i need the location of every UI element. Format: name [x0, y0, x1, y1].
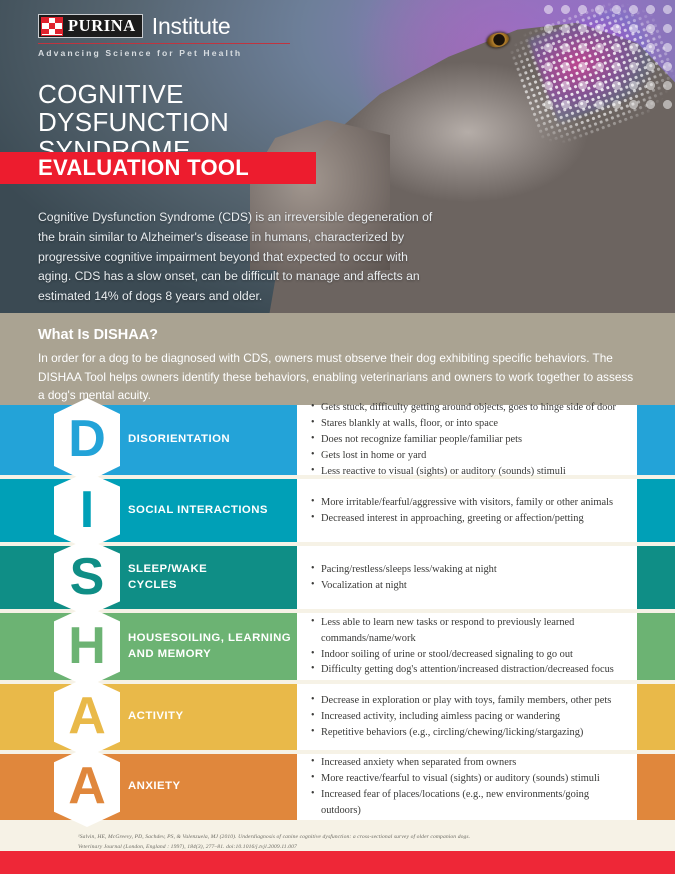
dishaa-category-label: SLEEP/WAKECYCLES — [128, 562, 207, 593]
dishaa-sign-item: Gets stuck, difficulty getting around ob… — [311, 400, 616, 416]
dishaa-sign-item: More reactive/fearful to visual (sights)… — [311, 771, 621, 787]
dishaa-letter: A — [68, 760, 106, 812]
title-line-1: COGNITIVE — [38, 80, 229, 108]
dishaa-letter: H — [68, 620, 106, 672]
dishaa-row-color-tail — [637, 613, 675, 680]
dishaa-row-color-tail — [637, 684, 675, 750]
dishaa-sign-item: Increased anxiety when separated from ow… — [311, 755, 621, 771]
hero-description: Cognitive Dysfunction Syndrome (CDS) is … — [38, 208, 443, 307]
dishaa-row-left: ISOCIAL INTERACTIONS — [0, 479, 297, 542]
hero-section: PURINA Institute Advancing Science for P… — [0, 0, 675, 313]
infographic-page: PURINA Institute Advancing Science for P… — [0, 0, 675, 874]
dishaa-row-color-tail — [637, 754, 675, 820]
dishaa-row-left: DDISORIENTATION — [0, 405, 297, 475]
dishaa-hexagon: I — [54, 472, 120, 549]
footer-red-bar — [0, 851, 675, 874]
dishaa-signs-list: Gets stuck, difficulty getting around ob… — [297, 405, 637, 475]
dishaa-sign-item: Stares blankly at walls, floor, or into … — [311, 416, 616, 432]
dishaa-signs-list: Increased anxiety when separated from ow… — [297, 754, 637, 820]
title-line-2: DYSFUNCTION — [38, 108, 229, 136]
dishaa-row: SSLEEP/WAKECYCLESPacing/restless/sleeps … — [0, 546, 675, 609]
dishaa-sign-item: Vocalization at night — [311, 578, 497, 594]
dishaa-sign-item: Increased fear of places/locations (e.g.… — [311, 787, 621, 819]
dishaa-sign-item: Indoor soiling of urine or stool/decreas… — [311, 647, 621, 663]
purina-badge: PURINA — [38, 14, 143, 38]
evaluation-tool-banner: EVALUATION TOOL — [0, 152, 316, 184]
dishaa-category-label: ACTIVITY — [128, 709, 184, 724]
dishaa-hexagon: A — [54, 747, 120, 827]
brand-tagline: Advancing Science for Pet Health — [38, 48, 290, 58]
purina-wordmark: PURINA — [68, 18, 136, 35]
dishaa-row: DDISORIENTATIONGets stuck, difficulty ge… — [0, 405, 675, 475]
dishaa-signs-list: Decrease in exploration or play with toy… — [297, 684, 637, 750]
dishaa-hexagon: D — [54, 398, 120, 482]
dishaa-sign-item: Difficulty getting dog's attention/incre… — [311, 662, 621, 678]
dishaa-sign-item: Decreased interest in approaching, greet… — [311, 511, 613, 527]
purina-checkerboard-icon — [41, 17, 63, 36]
dishaa-category-label: HOUSESOILING, LEARNINGAND MEMORY — [128, 631, 291, 662]
dishaa-row: AANXIETYIncreased anxiety when separated… — [0, 754, 675, 820]
dishaa-sign-item: Less reactive to visual (sights) or audi… — [311, 464, 616, 480]
dishaa-category-label: DISORIENTATION — [128, 432, 230, 447]
dishaa-sign-item: Pacing/restless/sleeps less/waking at ni… — [311, 562, 497, 578]
dishaa-sign-item: More irritable/fearful/aggressive with v… — [311, 495, 613, 511]
dishaa-row-color-tail — [637, 479, 675, 542]
dishaa-row-color-tail — [637, 546, 675, 609]
dishaa-row-left: AANXIETY — [0, 754, 297, 820]
dishaa-row: HHOUSESOILING, LEARNINGAND MEMORYLess ab… — [0, 613, 675, 680]
dishaa-row: AACTIVITYDecrease in exploration or play… — [0, 684, 675, 750]
evaluation-tool-label: EVALUATION TOOL — [38, 155, 249, 181]
dishaa-sign-item: Decrease in exploration or play with toy… — [311, 693, 611, 709]
sparkle-particles — [540, 0, 675, 110]
dishaa-sign-item: Increased activity, including aimless pa… — [311, 709, 611, 725]
dishaa-letter: A — [68, 690, 106, 742]
dishaa-letter: I — [80, 484, 94, 536]
dishaa-row-left: HHOUSESOILING, LEARNINGAND MEMORY — [0, 613, 297, 680]
dishaa-intro-body: In order for a dog to be diagnosed with … — [38, 349, 639, 405]
dishaa-sign-item: Gets lost in home or yard — [311, 448, 616, 464]
dishaa-rows: DDISORIENTATIONGets stuck, difficulty ge… — [0, 405, 675, 820]
dishaa-category-label: SOCIAL INTERACTIONS — [128, 503, 268, 518]
dishaa-signs-list: Less able to learn new tasks or respond … — [297, 613, 637, 680]
dishaa-hexagon: A — [54, 677, 120, 757]
dishaa-hexagon: S — [54, 539, 120, 616]
dishaa-letter: D — [68, 413, 106, 465]
dishaa-row-left: SSLEEP/WAKECYCLES — [0, 546, 297, 609]
dishaa-signs-list: More irritable/fearful/aggressive with v… — [297, 479, 637, 542]
dishaa-row-left: AACTIVITY — [0, 684, 297, 750]
dishaa-letter: S — [70, 551, 105, 603]
dishaa-signs-list: Pacing/restless/sleeps less/waking at ni… — [297, 546, 637, 609]
dishaa-row-color-tail — [637, 405, 675, 475]
dishaa-row: ISOCIAL INTERACTIONSMore irritable/fearf… — [0, 479, 675, 542]
dishaa-intro-section: What Is DISHAA? In order for a dog to be… — [0, 313, 675, 405]
dishaa-sign-item: Does not recognize familiar people/famil… — [311, 432, 616, 448]
citation-line-1: ¹Salvin, HE, McGreevy, PD, Sachdev, PS, … — [78, 833, 675, 843]
dishaa-sign-item: Less able to learn new tasks or respond … — [311, 615, 621, 647]
dishaa-sign-item: Repetitive behaviors (e.g., circling/che… — [311, 725, 611, 741]
dishaa-hexagon: H — [54, 606, 120, 687]
dishaa-intro-heading: What Is DISHAA? — [38, 327, 639, 343]
purina-institute-logo[interactable]: PURINA Institute Advancing Science for P… — [38, 14, 290, 58]
institute-wordmark: Institute — [152, 15, 231, 38]
citation-footnote: ¹Salvin, HE, McGreevy, PD, Sachdev, PS, … — [0, 824, 675, 853]
dishaa-category-label: ANXIETY — [128, 779, 181, 794]
logo-divider — [38, 43, 290, 44]
